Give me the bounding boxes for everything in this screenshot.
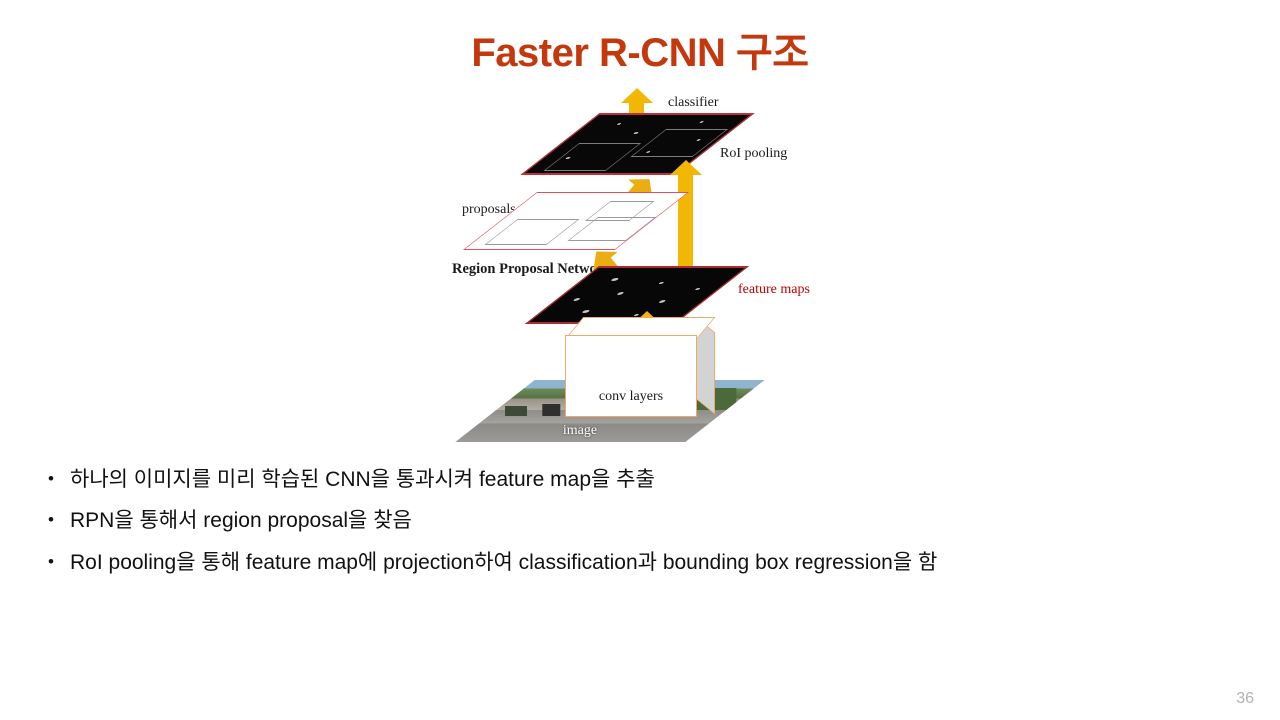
bullet-text: 하나의 이미지를 미리 학습된 CNN을 통과시켜 feature map을 추… — [70, 466, 1228, 494]
label-classifier: classifier — [668, 95, 719, 111]
conv-layers-box: conv layers — [565, 317, 715, 417]
proposal-box-3 — [567, 217, 656, 241]
bullet-marker: • — [48, 466, 70, 492]
bullet-list: • 하나의 이미지를 미리 학습된 CNN을 통과시켜 feature map을… — [48, 466, 1228, 590]
page-number: 36 — [1236, 690, 1254, 708]
arrow-featuremaps-to-roi — [678, 173, 693, 278]
page-title: Faster R-CNN 구조 — [0, 20, 1280, 78]
feature-speck — [581, 310, 591, 313]
feature-speck — [658, 300, 667, 303]
list-item: • 하나의 이미지를 미리 학습된 CNN을 통과시켜 feature map을… — [48, 466, 1228, 494]
feature-speck — [610, 278, 620, 281]
feature-speck — [616, 123, 622, 125]
feature-speck — [616, 292, 625, 295]
faster-rcnn-diagram: classifier RoI pooling proposals Region … — [440, 88, 840, 458]
layer-roi-pooling — [520, 113, 754, 175]
photo-detail — [505, 406, 527, 416]
label-conv-layers: conv layers — [565, 389, 697, 405]
bullet-text: RPN을 통해서 region proposal을 찾음 — [70, 507, 1228, 535]
feature-speck — [633, 132, 640, 134]
layer-proposals — [463, 192, 689, 250]
list-item: • RoI pooling을 통해 feature map에 projectio… — [48, 549, 1228, 577]
label-feature-maps: feature maps — [738, 282, 810, 298]
proposal-box-1 — [484, 219, 579, 245]
label-roi-pooling: RoI pooling — [720, 146, 787, 162]
list-item: • RPN을 통해서 region proposal을 찾음 — [48, 507, 1228, 535]
feature-speck — [699, 121, 705, 123]
feature-speck — [694, 288, 701, 290]
feature-speck — [658, 282, 665, 284]
photo-detail — [542, 404, 560, 416]
bullet-text: RoI pooling을 통해 feature map에 projection하… — [70, 549, 1228, 577]
label-image: image — [535, 423, 625, 439]
roi-box-1 — [543, 143, 641, 171]
bullet-marker: • — [48, 507, 70, 533]
feature-speck — [572, 298, 581, 301]
bullet-marker: • — [48, 549, 70, 575]
